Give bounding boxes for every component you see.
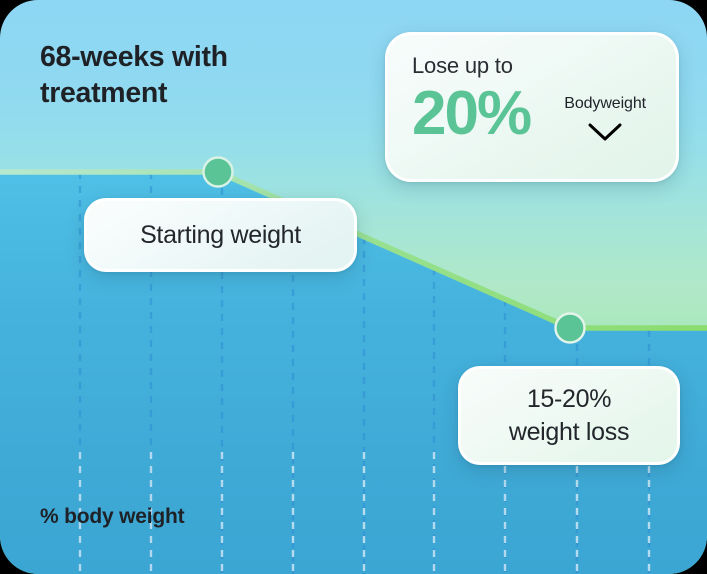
weight-loss-annotation: 15-20% weight loss: [458, 366, 680, 465]
marker-weight-loss[interactable]: [556, 314, 585, 343]
stat-value: 20%: [412, 83, 530, 145]
chevron-down-icon[interactable]: [587, 122, 623, 147]
starting-weight-label: Starting weight: [140, 221, 301, 250]
bodyweight-label: Bodyweight: [564, 95, 646, 113]
marker-starting-weight[interactable]: [204, 158, 233, 187]
page-title: 68-weeks with treatment: [40, 40, 340, 111]
stat-lead-label: Lose up to: [412, 53, 652, 79]
y-axis-caption: % body weight: [40, 505, 184, 529]
weight-loss-label: 15-20% weight loss: [509, 383, 629, 448]
stat-row: 20% Bodyweight: [412, 81, 652, 147]
starting-weight-annotation: Starting weight: [84, 198, 357, 272]
weight-loss-chart-card: 68-weeks with treatment % body weight Lo…: [0, 0, 707, 574]
bodyweight-selector[interactable]: Bodyweight: [564, 95, 646, 147]
lose-up-to-card: Lose up to 20% Bodyweight: [385, 32, 679, 182]
